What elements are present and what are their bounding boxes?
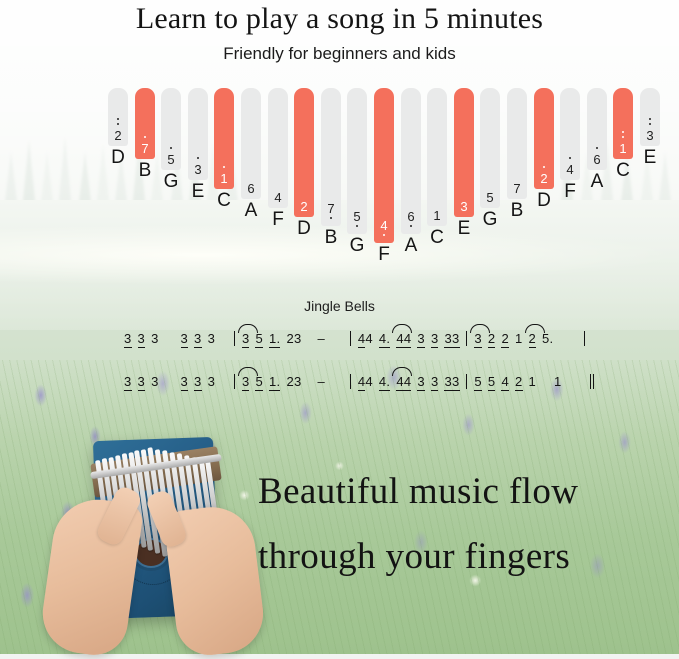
kalimba-tine-15[interactable]: 5 [480,88,500,208]
tine-octave-dot-above [622,131,624,141]
tine-letter: E [452,218,476,240]
page-subtitle: Friendly for beginners and kids [0,44,679,64]
song-notation-line-1: 333 333 351.23 – 444.443333 322125. [124,331,588,348]
tine-number: 5 [353,210,360,223]
tine-number: 4 [566,163,573,176]
tine-octave-dot-above [649,118,651,128]
kalimba-tine-12[interactable]: 6 [401,88,421,234]
kalimba-tine-1[interactable]: 2 [108,88,128,146]
tine-letter: E [638,147,662,169]
tine-letter: F [372,244,396,266]
kalimba-tine-5[interactable]: 1 [214,88,234,189]
kalimba-tine-10[interactable]: 5 [347,88,367,234]
kalimba-tine-16[interactable]: 7 [507,88,527,199]
kalimba-tine-20[interactable]: 1 [613,88,633,159]
tine-letter: C [212,190,236,212]
tine-number: 7 [513,182,520,195]
tine-number: 4 [380,219,387,232]
tine-octave-dot-below [383,234,385,239]
tine-number: 6 [407,210,414,223]
tine-number: 2 [114,129,121,142]
tine-letter: G [159,171,183,193]
tine-octave-dot-below [330,217,332,222]
tine-number: 6 [247,182,254,195]
tine-number: 4 [274,191,281,204]
tine-letter: F [558,181,582,203]
tine-letter: A [239,200,263,222]
kalimba-tine-17[interactable]: 2 [534,88,554,189]
tine-number: 7 [141,142,148,155]
tine-letter: C [611,160,635,182]
tine-number: 1 [220,172,227,185]
tine-number: 3 [460,200,467,213]
tine-letter: D [292,218,316,240]
tine-octave-dot-below [410,225,412,230]
kalimba-tine-7[interactable]: 4 [268,88,288,208]
kalimba-tine-8[interactable]: 2 [294,88,314,217]
tine-letter: G [478,209,502,231]
tine-number: 7 [327,202,334,215]
kalimba-tine-13[interactable]: 1 [427,88,447,226]
kalimba-tine-9[interactable]: 7 [321,88,341,226]
tine-number: 1 [619,142,626,155]
tine-letter: B [505,200,529,222]
tine-letter: D [106,147,130,169]
tine-number: 2 [300,200,307,213]
tine-octave-dot-below [356,225,358,230]
kalimba-tine-2[interactable]: 7 [135,88,155,159]
kalimba-tine-18[interactable]: 4 [560,88,580,180]
tine-letter: G [345,235,369,257]
kalimba-photo [48,425,263,654]
slogan-line-1: Beautiful music flow [258,470,578,513]
tine-letter: D [532,190,556,212]
song-notation-line-2: 333 333 351.23 – 444.443333 554211 [124,374,592,391]
kalimba-tine-14[interactable]: 3 [454,88,474,217]
kalimba-tine-21[interactable]: 3 [640,88,660,146]
tine-letter: A [399,235,423,257]
tine-number: 3 [646,129,653,142]
tine-number: 5 [167,153,174,166]
tine-octave-dot-above [117,118,119,128]
tine-letter: B [319,227,343,249]
tine-number: 5 [486,191,493,204]
tine-number: 1 [433,209,440,222]
tine-letter: E [186,181,210,203]
song-title: Jingle Bells [0,298,679,314]
page-title: Learn to play a song in 5 minutes [0,2,679,36]
tine-letter: B [133,160,157,182]
tine-letter: F [266,209,290,231]
kalimba-tine-11[interactable]: 4 [374,88,394,243]
tine-number: 2 [540,172,547,185]
tine-number: 3 [194,163,201,176]
kalimba-tine-4[interactable]: 3 [188,88,208,180]
tine-letter: C [425,227,449,249]
slogan-line-2: through your fingers [258,535,570,578]
kalimba-tine-19[interactable]: 6 [587,88,607,170]
tine-letter: A [585,171,609,193]
kalimba-tine-3[interactable]: 5 [161,88,181,170]
kalimba-tine-6[interactable]: 6 [241,88,261,199]
tine-number: 6 [593,153,600,166]
